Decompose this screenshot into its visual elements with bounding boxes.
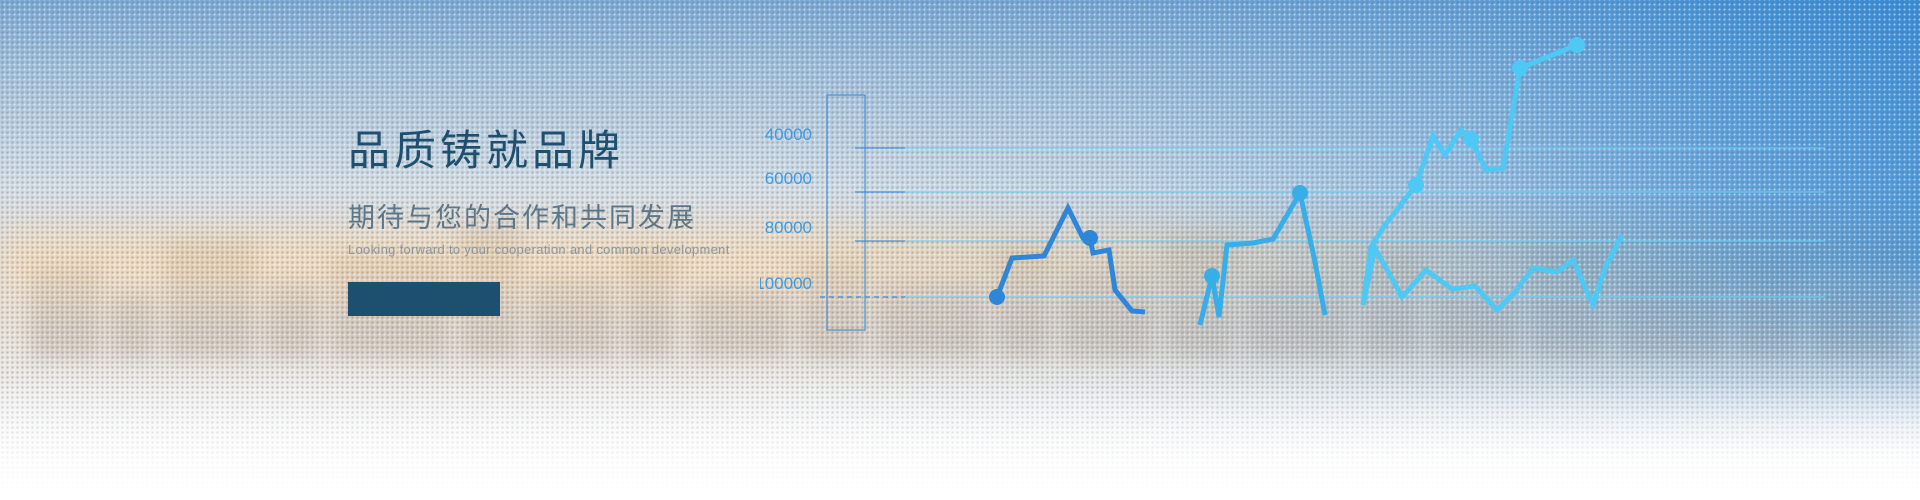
page-subtitle: 期待与您的合作和共同发展 xyxy=(348,196,768,235)
chart-canvas: 400006000080000100000 xyxy=(760,0,1920,500)
chart-line-series-4-light-upper xyxy=(1363,45,1577,305)
chart-data-point xyxy=(1292,185,1308,201)
cta-button[interactable] xyxy=(348,282,500,316)
chart-series-group xyxy=(989,37,1622,325)
chart-data-point xyxy=(1082,230,1098,246)
hero-copy-block: 品质铸就品牌 期待与您的合作和共同发展 Looking forward to y… xyxy=(348,128,768,316)
chart-data-point xyxy=(1463,131,1479,147)
y-axis-tick-label: 60000 xyxy=(765,169,812,188)
chart-data-point xyxy=(1512,60,1528,76)
axis-frame-rect xyxy=(827,95,865,330)
chart-data-point xyxy=(1408,177,1424,193)
y-axis-tick-label: 100000 xyxy=(760,274,812,293)
y-axis-tick-label: 40000 xyxy=(765,125,812,144)
chart-line-series-3-light-lower xyxy=(1363,235,1622,310)
chart-y-axis-labels: 400006000080000100000 xyxy=(760,125,812,293)
chart-gridlines xyxy=(820,148,1825,297)
hero-banner: 品质铸就品牌 期待与您的合作和共同发展 Looking forward to y… xyxy=(0,0,1920,500)
page-subtitle-english: Looking forward to your cooperation and … xyxy=(348,242,768,257)
chart-line-series-2-mid xyxy=(1200,193,1325,325)
chart-data-point xyxy=(989,289,1005,305)
chart-axis-frame xyxy=(827,95,865,330)
chart-data-point xyxy=(1569,37,1585,53)
page-title: 品质铸就品牌 xyxy=(348,128,768,174)
chart-data-point xyxy=(1204,268,1220,284)
line-chart: 400006000080000100000 xyxy=(760,0,1920,500)
y-axis-tick-label: 80000 xyxy=(765,218,812,237)
